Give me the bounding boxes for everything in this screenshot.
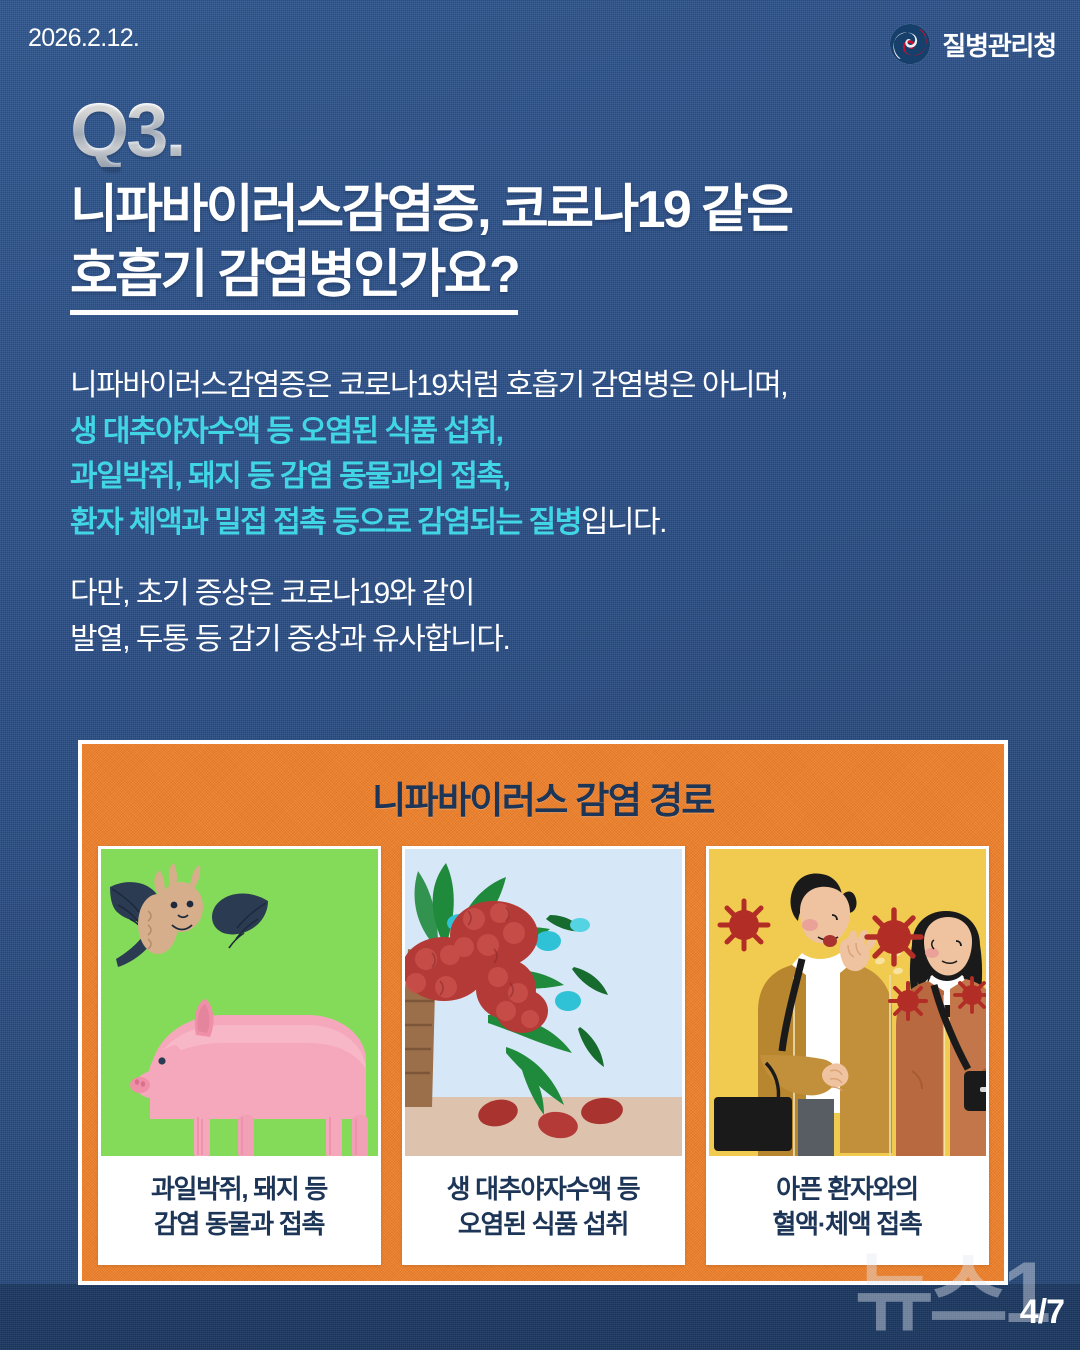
kdca-logo-label: 질병관리청	[942, 26, 1056, 63]
route-card-caption: 과일박쥐, 돼지 등 감염 동물과 접촉	[101, 1156, 378, 1262]
body-line-6: 발열, 두통 등 감기 증상과 유사합니다.	[70, 617, 1030, 663]
caption-line-1: 아픈 환자와의	[715, 1172, 980, 1207]
route-card-patient-contact: 아픈 환자와의 혈액·체액 접촉	[706, 846, 989, 1265]
transmission-routes-panel: 니파바이러스 감염 경로	[78, 740, 1008, 1285]
route-card-animal-contact: 과일박쥐, 돼지 등 감염 동물과 접촉	[98, 846, 381, 1265]
page-title: 니파바이러스감염증, 코로나19 같은 호흡기 감염병인가요?	[70, 180, 1030, 315]
paragraph-spacer	[70, 545, 1030, 571]
body-line-4-highlight-text: 환자 체액과 밀접 접촉 등으로 감염되는 질병	[70, 506, 581, 539]
body-line-3-highlight: 과일박쥐, 돼지 등 감염 동물과의 접촉,	[70, 454, 1030, 500]
body-line-4-highlight: 환자 체액과 밀접 접촉 등으로 감염되는 질병입니다.	[70, 500, 1030, 546]
route-card-caption: 아픈 환자와의 혈액·체액 접촉	[709, 1156, 986, 1262]
page-indicator: 4/7	[1020, 1293, 1064, 1332]
date-palm-tree-with-fruit-illustration	[405, 849, 682, 1156]
transmission-route-cards: 과일박쥐, 돼지 등 감염 동물과 접촉	[82, 846, 1004, 1265]
kdca-taegeuk-logo-icon	[888, 22, 932, 66]
publication-date: 2026.2.12.	[28, 24, 139, 53]
headline-line-1: 니파바이러스감염증, 코로나19 같은	[70, 180, 1030, 241]
bottom-navy-band	[0, 1284, 1080, 1350]
kdca-logo: 질병관리청	[888, 22, 1056, 66]
body-line-2-highlight: 생 대추야자수액 등 오염된 식품 섭취,	[70, 409, 1030, 455]
fruit-bat-and-pig-illustration	[101, 849, 378, 1156]
caption-line-1: 생 대추야자수액 등	[411, 1172, 676, 1207]
route-card-contaminated-food: 생 대추야자수액 등 오염된 식품 섭취	[402, 846, 685, 1265]
caption-line-2: 감염 동물과 접촉	[107, 1207, 372, 1242]
route-card-caption: 생 대추야자수액 등 오염된 식품 섭취	[405, 1156, 682, 1262]
panel-title: 니파바이러스 감염 경로	[82, 770, 1004, 824]
caption-line-1: 과일박쥐, 돼지 등	[107, 1172, 372, 1207]
body-line-4-tail: 입니다.	[581, 506, 666, 539]
body-text: 니파바이러스감염증은 코로나19처럼 호흡기 감염병은 아니며, 생 대추야자수…	[70, 363, 1030, 663]
body-line-5: 다만, 초기 증상은 코로나19와 같이	[70, 571, 1030, 617]
caption-line-2: 오염된 식품 섭취	[411, 1207, 676, 1242]
coughing-patient-and-person-illustration	[709, 849, 986, 1156]
body-line-1: 니파바이러스감염증은 코로나19처럼 호흡기 감염병은 아니며,	[70, 363, 1030, 409]
question-number: Q3.	[70, 95, 184, 167]
caption-line-2: 혈액·체액 접촉	[715, 1207, 980, 1242]
headline-line-2: 호흡기 감염병인가요?	[70, 245, 518, 314]
